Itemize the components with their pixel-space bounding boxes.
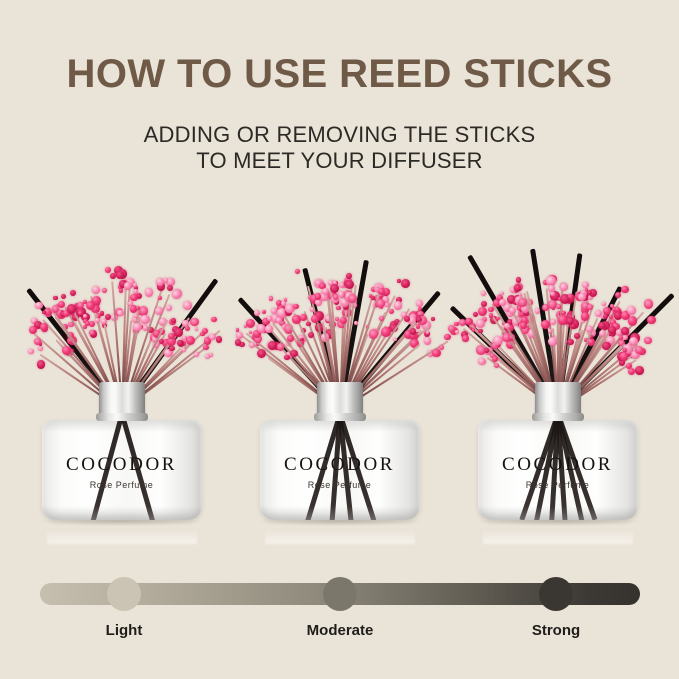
- dried-flower-bloom: [182, 320, 189, 327]
- dried-flower-bloom: [424, 337, 431, 344]
- dried-flower-bloom: [478, 358, 485, 365]
- dried-flower-bloom: [35, 302, 42, 309]
- dried-flower-bloom: [439, 345, 444, 350]
- dried-flower-bloom: [481, 291, 486, 296]
- dried-flower-bloom: [182, 348, 186, 352]
- variant-label: Rose Perfume: [42, 480, 202, 490]
- dried-flower-bloom: [34, 338, 40, 344]
- dried-flower-bloom: [371, 296, 375, 300]
- reed-arrangement-moderate: [232, 210, 447, 410]
- bottle-glass: COCODOR Rose Perfume: [260, 420, 420, 520]
- dried-flower-bloom: [166, 305, 172, 311]
- dried-flower-bloom: [410, 328, 417, 335]
- diffuser-bottle: COCODOR Rose Perfume: [478, 382, 638, 520]
- dried-flower-bloom: [615, 292, 621, 298]
- dried-flower-bloom: [518, 298, 527, 307]
- dried-flower-bloom: [336, 306, 341, 311]
- dried-flower-bloom: [117, 310, 123, 316]
- dried-flower-bloom: [455, 330, 459, 334]
- slider-knob-light[interactable]: [107, 577, 141, 611]
- dried-flower-bloom: [102, 288, 107, 293]
- bottle-cap: [99, 382, 145, 416]
- dried-flower-bloom: [287, 335, 295, 343]
- dried-flower-bloom: [586, 326, 592, 332]
- dried-flower-bloom: [70, 290, 76, 296]
- dried-flower-bloom: [205, 354, 210, 359]
- page-subtitle: ADDING OR REMOVING THE STICKS TO MEET YO…: [0, 122, 679, 174]
- dried-flower-bloom: [369, 329, 379, 339]
- dried-flower-bloom: [269, 296, 274, 301]
- dried-flower-bloom: [635, 346, 643, 354]
- dried-flower-bloom: [85, 321, 90, 326]
- reed-arrangement-strong: [450, 210, 665, 410]
- dried-flower-bloom: [174, 328, 183, 337]
- dried-flower-bloom: [38, 346, 43, 351]
- dried-flower-bloom: [568, 294, 573, 299]
- dried-flower-bloom: [284, 355, 289, 360]
- dried-flower-bloom: [249, 331, 252, 334]
- diffuser-light: COCODOR Rose Perfume: [14, 210, 229, 560]
- dried-flower-bloom: [462, 335, 468, 341]
- bottle-cap: [535, 382, 581, 416]
- dried-flower-bloom: [202, 328, 208, 334]
- reed-arrangement-light: [14, 210, 229, 410]
- dried-flower-bloom: [416, 300, 423, 307]
- dried-flower-bloom: [340, 317, 347, 324]
- dried-flower-bloom: [335, 317, 339, 321]
- infographic-poster: HOW TO USE REED STICKS ADDING OR REMOVIN…: [0, 0, 679, 679]
- dried-flower-bloom: [448, 325, 455, 332]
- dried-flower-bloom: [476, 319, 485, 328]
- dried-flower-bloom: [140, 315, 149, 324]
- diffuser-bottle: COCODOR Rose Perfume: [260, 382, 420, 520]
- dried-flower-bloom: [295, 269, 301, 275]
- dried-flower-bloom: [169, 346, 175, 352]
- dried-flower-bloom: [548, 285, 555, 292]
- bottle-cap: [317, 382, 363, 416]
- dried-flower-bloom: [647, 316, 656, 325]
- brand-label: COCODOR: [42, 454, 202, 476]
- dried-flower-bloom: [587, 304, 593, 310]
- dried-flower-bloom: [560, 283, 569, 292]
- dried-flower-bloom: [52, 305, 59, 312]
- dried-flower-bloom: [29, 326, 37, 334]
- dried-flower-bloom: [473, 312, 478, 317]
- intensity-slider[interactable]: [40, 583, 640, 605]
- intensity-labels: Light Moderate Strong: [0, 622, 679, 646]
- dried-flower-bloom: [133, 323, 141, 331]
- dried-flower-bloom: [37, 360, 45, 368]
- dried-flower-bloom: [133, 283, 137, 287]
- dried-flower-bloom: [346, 273, 352, 279]
- dried-flower-bloom: [627, 306, 636, 315]
- dried-flower-bloom: [621, 327, 629, 335]
- variant-label: Rose Perfume: [260, 480, 420, 490]
- dried-flower-bloom: [316, 281, 320, 285]
- dried-flower-bloom: [101, 319, 107, 325]
- dried-flower-bloom: [628, 368, 635, 375]
- dried-flower-bloom: [478, 307, 487, 316]
- dried-flower-bloom: [578, 293, 586, 301]
- dried-flower-bloom: [494, 363, 499, 368]
- dried-flower-bloom: [262, 310, 266, 314]
- dried-flower-bloom: [348, 294, 357, 303]
- dried-flower-bloom: [267, 316, 272, 321]
- brand-label: COCODOR: [478, 454, 638, 476]
- dried-flower-bloom: [190, 318, 198, 326]
- dried-flower-bloom: [186, 336, 195, 345]
- dried-flower-bloom: [83, 314, 87, 318]
- dried-flower-bloom: [608, 326, 616, 334]
- dried-flower-bloom: [635, 366, 644, 375]
- dried-flower-bloom: [130, 294, 137, 301]
- dried-flower-bloom: [246, 319, 255, 328]
- dried-flower-bloom: [68, 322, 73, 327]
- dried-flower-bloom: [582, 282, 589, 289]
- dried-flower-bloom: [244, 325, 248, 329]
- dried-flower-bloom: [124, 282, 132, 290]
- dried-flower-bloom: [167, 285, 173, 291]
- dried-flower-bloom: [401, 279, 410, 288]
- bottle-glass: COCODOR Rose Perfume: [478, 420, 638, 520]
- diffuser-bottle: COCODOR Rose Perfume: [42, 382, 202, 520]
- dried-flower-bloom: [254, 310, 260, 316]
- slider-knob-moderate[interactable]: [323, 577, 357, 611]
- dried-flower-bloom: [300, 314, 307, 321]
- dried-flower-bloom: [333, 294, 338, 299]
- dried-flower-bloom: [602, 302, 605, 305]
- dried-flower-bloom: [265, 325, 273, 333]
- dried-flower-bloom: [116, 271, 124, 279]
- dried-flower-bloom: [42, 311, 46, 315]
- dried-flower-bloom: [216, 336, 222, 342]
- dried-flower-bloom: [145, 288, 153, 296]
- dried-flower-bloom: [89, 330, 95, 336]
- dried-flower-bloom: [62, 346, 71, 355]
- dried-flower-bloom: [394, 301, 403, 310]
- intensity-label-light: Light: [106, 622, 143, 639]
- dried-flower-bloom: [249, 342, 255, 348]
- dried-flower-bloom: [78, 311, 82, 315]
- bottle-reflection: [483, 518, 633, 544]
- dried-flower-bloom: [203, 345, 209, 351]
- dried-flower-bloom: [209, 334, 216, 341]
- dried-flower-bloom: [548, 337, 558, 347]
- dried-flower-bloom: [290, 350, 297, 357]
- dried-flower-bloom: [621, 286, 628, 293]
- brand-label: COCODOR: [260, 454, 420, 476]
- dried-flower-bloom: [194, 352, 199, 357]
- dried-flower-bloom: [67, 304, 77, 314]
- dried-flower-bloom: [28, 349, 33, 354]
- bottle-reflection: [47, 518, 197, 544]
- dried-flower-bloom: [567, 339, 573, 345]
- dried-flower-bloom: [389, 309, 394, 314]
- dried-flower-bloom: [40, 323, 48, 331]
- diffuser-strong: COCODOR Rose Perfume: [450, 210, 665, 560]
- bottle-glass: COCODOR Rose Perfume: [42, 420, 202, 520]
- dried-flower-bloom: [489, 313, 493, 317]
- slider-knob-strong[interactable]: [539, 577, 573, 611]
- dried-flower-bloom: [644, 299, 654, 309]
- dried-flower-bloom: [493, 336, 502, 345]
- dried-flower-bloom: [105, 267, 111, 273]
- dried-flower-bloom: [628, 316, 638, 326]
- dried-flower-bloom: [158, 296, 162, 300]
- variant-label: Rose Perfume: [478, 480, 638, 490]
- dried-flower-bloom: [488, 307, 493, 312]
- dried-flower-bloom: [516, 277, 522, 283]
- dried-flower-bloom: [431, 317, 435, 321]
- dried-flower-bloom: [92, 296, 101, 305]
- dried-flower-bloom: [53, 296, 57, 300]
- dried-flower-bloom: [293, 304, 298, 309]
- dried-flower-bloom: [95, 318, 100, 323]
- dried-flower-bloom: [465, 318, 473, 326]
- dried-flower-bloom: [83, 300, 87, 304]
- dried-flower-bloom: [236, 328, 239, 331]
- dried-flower-bloom: [550, 319, 557, 326]
- intensity-label-moderate: Moderate: [307, 622, 374, 639]
- dried-flower-bloom: [509, 307, 516, 314]
- dried-flower-bloom: [345, 280, 354, 289]
- page-title: HOW TO USE REED STICKS: [0, 52, 679, 97]
- subtitle-line-2: TO MEET YOUR DIFFUSER: [0, 148, 679, 174]
- dried-flower-bloom: [195, 327, 199, 331]
- intensity-label-strong: Strong: [532, 622, 580, 639]
- dried-flower-bloom: [416, 324, 420, 328]
- dried-flower-bloom: [155, 307, 163, 315]
- dried-flower-bloom: [277, 343, 284, 350]
- dried-flower-bloom: [92, 286, 100, 294]
- dried-flower-bloom: [183, 301, 192, 310]
- dried-flower-bloom: [315, 293, 321, 299]
- dried-flower-bloom: [492, 356, 498, 362]
- bottle-reflection: [265, 518, 415, 544]
- product-row: COCODOR Rose Perfume COCODOR Rose Perfum…: [0, 210, 679, 560]
- dried-flower-bloom: [416, 317, 422, 323]
- dried-flower-bloom: [397, 279, 401, 283]
- dried-flower-bloom: [134, 314, 138, 318]
- dried-flower-bloom: [83, 325, 87, 329]
- dried-flower-bloom: [623, 348, 627, 352]
- dried-flower-bloom: [268, 341, 277, 350]
- dried-flower-bloom: [376, 299, 385, 308]
- dried-flower-bloom: [581, 312, 590, 321]
- dried-flower-bloom: [306, 322, 310, 326]
- dried-flower-bloom: [514, 284, 521, 291]
- dried-flower-bloom: [172, 290, 181, 299]
- subtitle-line-1: ADDING OR REMOVING THE STICKS: [0, 122, 679, 148]
- diffuser-moderate: COCODOR Rose Perfume: [232, 210, 447, 560]
- dried-flower-bloom: [644, 337, 652, 345]
- dried-flower-bloom: [61, 294, 66, 299]
- dried-flower-bloom: [535, 308, 540, 313]
- dried-flower-bloom: [432, 349, 440, 357]
- dried-flower-bloom: [376, 285, 379, 288]
- dried-flower-bloom: [211, 317, 216, 322]
- dried-flower-bloom: [110, 273, 116, 279]
- dried-flower-bloom: [236, 332, 243, 339]
